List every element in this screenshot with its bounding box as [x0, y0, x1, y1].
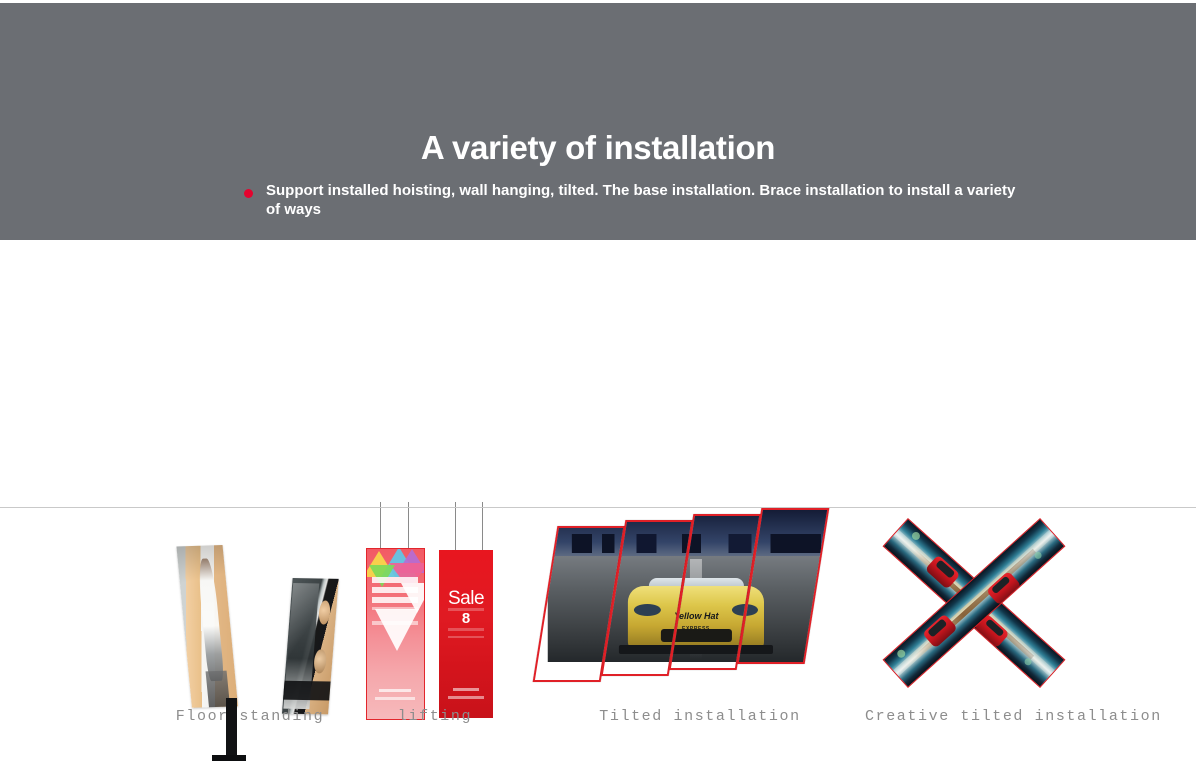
standing-panel-right-band [283, 681, 331, 701]
caption-floor-standing: Floor standing [150, 708, 350, 725]
caption-creative-tilted: Creative tilted installation [865, 708, 1130, 725]
banner-headline-line-2 [372, 587, 418, 593]
caption-lifting: lifting [360, 708, 510, 725]
sale-banner-line-2 [448, 628, 484, 631]
banner-subline-1 [372, 607, 418, 610]
sale-banner-headline: Sale [439, 588, 493, 610]
standing-panel-left-base [212, 755, 246, 761]
tilted-panel-group: Yellow Hat EXPRESS [545, 508, 845, 688]
caption-tilted-installation: Tilted installation [545, 708, 855, 725]
bullet-text: Support installed hoisting, wall hanging… [266, 181, 1026, 219]
hanging-wire [380, 502, 381, 548]
standing-panel-left-figure [197, 558, 224, 681]
creative-panel-car [985, 571, 1021, 606]
slide-root: A variety of installation Support instal… [0, 0, 1196, 515]
hanging-wire [408, 502, 409, 548]
sale-banner-footer-1 [453, 688, 479, 691]
hanging-wire [482, 502, 483, 550]
gallery-area: Floor standing [0, 240, 1196, 515]
sale-banner-line-3 [448, 636, 484, 638]
hanging-banner-womens-day [366, 548, 425, 720]
creative-x-group [875, 512, 1070, 692]
sale-banner-number: 8 [439, 610, 493, 627]
bullet-marker-icon [244, 189, 253, 198]
image-skyline [572, 534, 626, 552]
bottom-divider [0, 507, 1196, 508]
hanging-wire [455, 502, 456, 550]
banner-headline-line-1 [372, 577, 418, 583]
standing-panel-right-portrait-bottom [313, 649, 327, 674]
sale-banner-footer-2 [448, 696, 484, 699]
page-title: A variety of installation [0, 129, 1196, 167]
hanging-banner-sale: Sale 8 [439, 550, 493, 718]
banner-footer-line-2 [375, 697, 415, 700]
banner-triangle-white-large [375, 609, 419, 651]
banner-headline-line-3 [372, 597, 418, 603]
header-banner: A variety of installation Support instal… [0, 3, 1196, 240]
standing-panel-left [176, 545, 238, 708]
banner-triangle-green [369, 565, 395, 587]
panel-glow-light [895, 648, 906, 659]
standing-panel-right [282, 578, 339, 714]
standing-panel-right-portrait-top [318, 600, 331, 625]
car-grille [669, 629, 732, 643]
banner-subline-2 [372, 621, 418, 625]
panel-glow-light [910, 530, 921, 541]
banner-footer-line-1 [379, 689, 411, 692]
car-front-splitter [737, 645, 773, 654]
